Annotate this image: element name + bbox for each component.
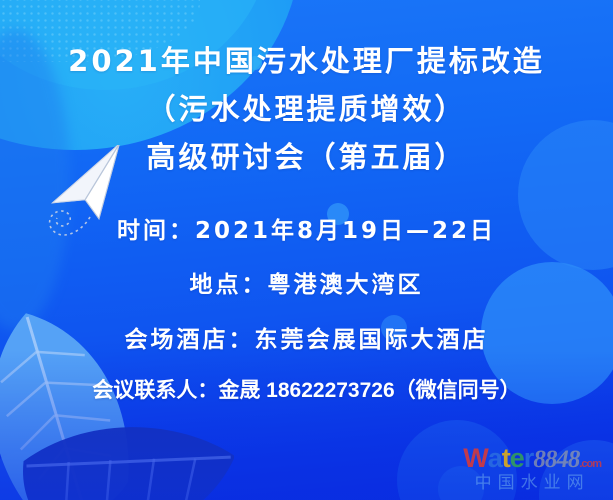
watermark-tld: .com [579,459,601,470]
watermark-number: 8848 [533,447,579,472]
conference-poster: 2021年中国污水处理厂提标改造 （污水处理提质增效） 高级研讨会（第五届） 时… [0,0,613,500]
watermark-letter-a: a [488,445,502,472]
poster-title-line-1: 2021年中国污水处理厂提标改造 [0,38,613,80]
watermark-letter-r: r [524,445,534,472]
watermark-letter-e: e [510,445,524,472]
watermark-letter-t: t [502,445,510,472]
poster-title-line-2: （污水处理提质增效） [0,86,613,128]
event-location: 地点：粤港澳大湾区 [0,265,613,299]
site-watermark: Water8848.com 中国水业网 [463,445,601,492]
event-contact: 会议联系人：金晟 18622273726（微信同号） [0,374,613,404]
event-time: 时间：2021年8月19日—22日 [0,211,613,245]
watermark-letter-w: W [463,445,487,472]
poster-text-layer: 2021年中国污水处理厂提标改造 （污水处理提质增效） 高级研讨会（第五届） 时… [0,0,613,500]
watermark-chinese-name: 中国水业网 [463,475,601,492]
watermark-wordmark: Water8848.com [463,445,601,472]
poster-title-line-3: 高级研讨会（第五届） [0,134,613,176]
event-hotel: 会场酒店：东莞会展国际大酒店 [0,320,613,354]
